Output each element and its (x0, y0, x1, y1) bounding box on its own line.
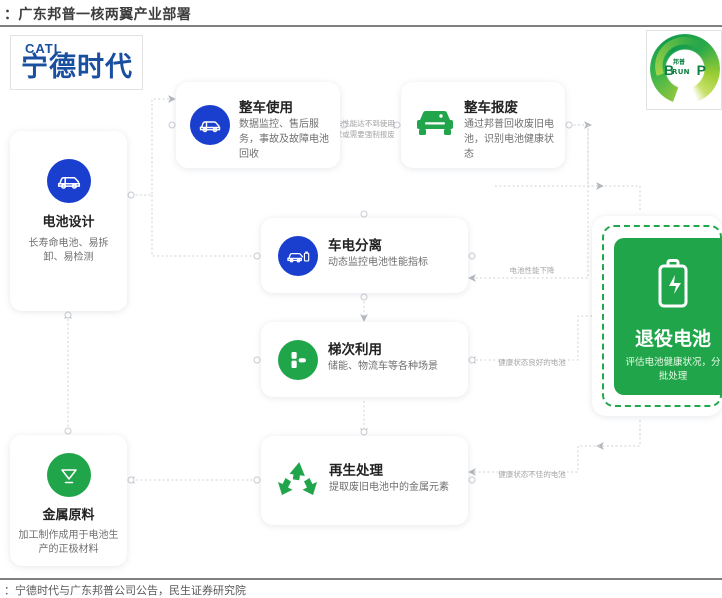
slide-page: ：广东邦普一核两翼产业部署 ：宁德时代与广东邦普公司公告，民生证券研究院 CAT… (0, 0, 722, 596)
node-desc: 通过邦普回收废旧电池，识别电池健康状态 (464, 117, 562, 162)
node-desc: 加工制作成用于电池生产的正极材料 (10, 529, 127, 557)
node-desc: 长寿命电池、易拆卸、易检测 (10, 237, 127, 265)
recycle-icon (275, 458, 321, 504)
node-metal-raw-material[interactable]: 金属原料 加工制作成用于电池生产的正极材料 (10, 435, 127, 566)
node-recycling-treatment[interactable]: 再生处理 提取废旧电池中的金属元素 (261, 436, 468, 525)
process-diagram: 整车性能达不到使用要求或需要强制报废 电池性能下降 健康状态良好的电池 健康状态… (0, 26, 722, 578)
node-text: 整车报废 通过邦普回收废旧电池，识别电池健康状态 (464, 99, 562, 162)
node-desc: 提取废旧电池中的金属元素 (329, 480, 449, 495)
node-title: 金属原料 (10, 508, 127, 524)
page-title: ：广东邦普一核两翼产业部署 (4, 4, 191, 24)
funnel-icon (47, 453, 91, 497)
car-front-icon (413, 102, 457, 146)
cascade-icon (278, 340, 318, 380)
node-title: 再生处理 (329, 462, 449, 480)
car-battery-icon (278, 236, 318, 276)
node-desc: 动态监控电池性能指标 (328, 255, 428, 270)
node-title: 梯次利用 (328, 341, 438, 359)
node-title: 车电分离 (328, 237, 428, 255)
car-side-icon (190, 105, 230, 145)
node-battery-design[interactable]: 电池设计 长寿命电池、易拆卸、易检测 (10, 131, 127, 311)
node-desc: 储能、物流车等各种场景 (328, 359, 438, 374)
node-vehicle-use[interactable]: 整车使用 数据监控、售后服务，事故及故障电池回收 (176, 82, 340, 168)
car-side-icon (47, 159, 91, 203)
edge-label-good-health: 健康状态良好的电池 (482, 358, 582, 368)
edge-label-degrade: 电池性能下降 (487, 266, 577, 276)
node-title: 退役电池 (614, 328, 722, 351)
node-text: 再生处理 提取废旧电池中的金属元素 (329, 462, 449, 495)
node-retired-battery[interactable]: 退役电池 评估电池健康状况，分批处理 (614, 238, 722, 395)
node-title: 整车使用 (239, 99, 335, 117)
node-text: 车电分离 动态监控电池性能指标 (328, 237, 428, 270)
node-desc: 评估电池健康状况，分批处理 (614, 356, 722, 384)
node-text: 整车使用 数据监控、售后服务，事故及故障电池回收 (239, 99, 335, 162)
node-desc: 数据监控、售后服务，事故及故障电池回收 (239, 117, 335, 162)
footer-divider (0, 578, 722, 580)
node-vehicle-scrap[interactable]: 整车报废 通过邦普回收废旧电池，识别电池健康状态 (401, 82, 565, 168)
node-battery-swap-separation[interactable]: 车电分离 动态监控电池性能指标 (261, 218, 468, 293)
node-title: 整车报废 (464, 99, 562, 117)
battery-bolt-icon (614, 256, 722, 316)
edge-label-poor-health: 健康状态不佳的电池 (482, 470, 582, 480)
node-cascade-utilization[interactable]: 梯次利用 储能、物流车等各种场景 (261, 322, 468, 397)
node-title: 电池设计 (10, 215, 127, 231)
node-text: 梯次利用 储能、物流车等各种场景 (328, 341, 438, 374)
